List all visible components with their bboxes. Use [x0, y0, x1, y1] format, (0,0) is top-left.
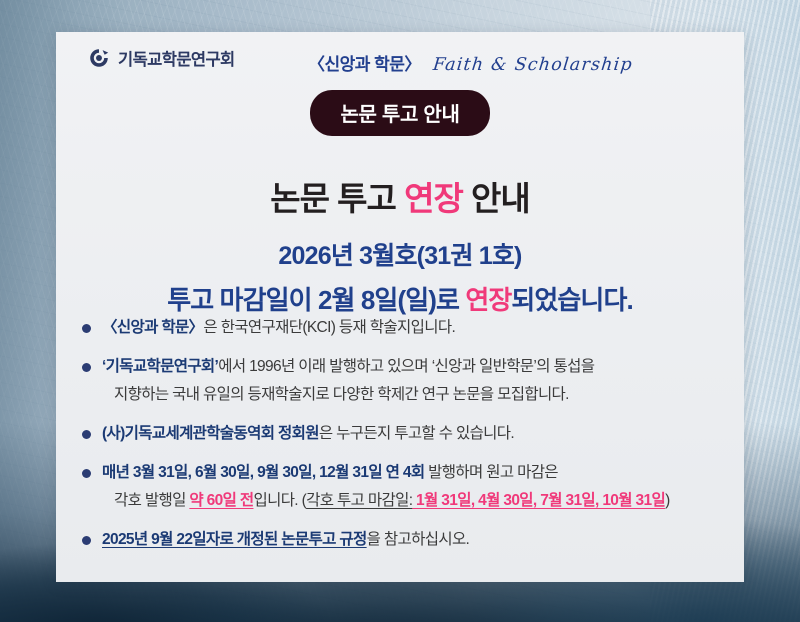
bullet-text-segment[interactable]: 2025년 9월 22일자로 개정된 논문투고 규정 — [102, 531, 367, 548]
organization-name: 기독교학문연구회 — [118, 46, 235, 70]
bullet-text-segment: 은 한국연구재단(KCI) 등재 학술지입니다. — [203, 319, 455, 336]
brand: 기독교학문연구회 — [88, 46, 235, 70]
deadline-before: 투고 마감일이 2월 8일(일)로 — [167, 285, 465, 315]
bullet-schedule: 매년 3월 31일, 6월 30일, 9월 30일, 12월 31일 연 4회 … — [80, 459, 722, 515]
bullet-publication-history: ‘기독교학문연구회’에서 1996년 이래 발행하고 있으며 ‘신앙과 일반학문… — [80, 353, 722, 409]
announcement-card: 기독교학문연구회 〈신앙과 학문〉 Faith & Scholarship 논문… — [56, 32, 744, 582]
bullet-line: (사)기독교세계관학술동역회 정회원은 누구든지 투고할 수 있습니다. — [102, 420, 722, 448]
journal-title: 〈신앙과 학문〉 Faith & Scholarship — [308, 50, 633, 75]
page-title-highlight: 연장 — [404, 180, 463, 217]
page-title: 논문 투고 연장 안내 — [56, 172, 744, 220]
bullet-dot-icon — [82, 430, 91, 439]
bullet-line: 각호 발행일 약 60일 전입니다. (각호 투고 마감일: 1월 31일, 4… — [102, 487, 722, 515]
bullet-text-segment[interactable]: 1월 31일, 4월 30일, 7월 31일, 10월 31일 — [412, 492, 665, 509]
bullet-text-segment: 에서 1996년 이래 발행하고 있으며 ‘신앙과 일반학문’의 통섭을 — [218, 358, 594, 375]
bullet-kci-listing: 〈신앙과 학문〉은 한국연구재단(KCI) 등재 학술지입니다. — [80, 314, 722, 342]
bullet-text-segment[interactable]: 각호 투고 마감일: — [306, 492, 412, 509]
bullet-dot-icon — [82, 363, 91, 372]
page-title-after: 안내 — [463, 180, 530, 217]
bullet-text-segment: (사)기독교세계관학술동역회 정회원 — [102, 425, 319, 442]
page-title-before: 논문 투고 — [270, 180, 404, 217]
bullet-text-segment: ) — [665, 492, 670, 509]
bullet-text-segment: ‘기독교학문연구회’ — [102, 358, 218, 375]
deadline-line: 투고 마감일이 2월 8일(일)로 연장되었습니다. — [56, 280, 744, 317]
bullet-text-segment: 입니다. ( — [253, 492, 306, 509]
bullet-regulations: 2025년 9월 22일자로 개정된 논문투고 규정을 참고하십시오. — [80, 526, 722, 554]
bullet-dot-icon — [82, 536, 91, 545]
bullet-text-segment: 매년 3월 31일, 6월 30일, 9월 30일, 12월 31일 연 4회 — [102, 464, 424, 481]
bullet-line: 2025년 9월 22일자로 개정된 논문투고 규정을 참고하십시오. — [102, 526, 722, 554]
bullet-text-segment: 각호 발행일 — [114, 492, 189, 509]
bullet-text-segment: 발행하며 원고 마감은 — [424, 464, 557, 481]
bullet-text-segment: 은 누구든지 투고할 수 있습니다. — [319, 425, 514, 442]
info-bullet-list: 〈신앙과 학문〉은 한국연구재단(KCI) 등재 학술지입니다.‘기독교학문연구… — [56, 314, 744, 565]
poster-root: 기독교학문연구회 〈신앙과 학문〉 Faith & Scholarship 논문… — [0, 0, 800, 622]
card-header: 기독교학문연구회 〈신앙과 학문〉 Faith & Scholarship — [56, 32, 744, 90]
journal-title-english: Faith & Scholarship — [432, 55, 634, 75]
bullet-eligibility: (사)기독교세계관학술동역회 정회원은 누구든지 투고할 수 있습니다. — [80, 420, 722, 448]
bullet-line: 매년 3월 31일, 6월 30일, 9월 30일, 12월 31일 연 4회 … — [102, 459, 722, 487]
bullet-text-segment: 지향하는 국내 유일의 등재학술지로 다양한 학제간 연구 논문을 모집합니다. — [114, 386, 569, 403]
bullet-text-segment: 을 참고하십시오. — [367, 531, 470, 548]
bullet-dot-icon — [82, 469, 91, 478]
status-badge: 논문 투고 안내 — [310, 90, 489, 136]
journal-title-korean: 〈신앙과 학문〉 — [308, 50, 421, 75]
bullet-line: 지향하는 국내 유일의 등재학술지로 다양한 학제간 연구 논문을 모집합니다. — [102, 381, 722, 409]
bullet-line: 〈신앙과 학문〉은 한국연구재단(KCI) 등재 학술지입니다. — [102, 314, 722, 342]
bullet-dot-icon — [82, 324, 91, 333]
badge-row: 논문 투고 안내 — [56, 90, 744, 136]
bullet-text-segment[interactable]: 약 60일 전 — [189, 492, 253, 509]
bullet-text-segment: 〈신앙과 학문〉 — [102, 319, 203, 336]
bullet-line: ‘기독교학문연구회’에서 1996년 이래 발행하고 있으며 ‘신앙과 일반학문… — [102, 353, 722, 381]
issue-line: 2026년 3월호(31권 1호) — [56, 236, 744, 272]
circle-mark-icon — [88, 47, 110, 69]
deadline-after: 되었습니다. — [511, 285, 632, 315]
deadline-highlight: 연장 — [465, 285, 511, 315]
